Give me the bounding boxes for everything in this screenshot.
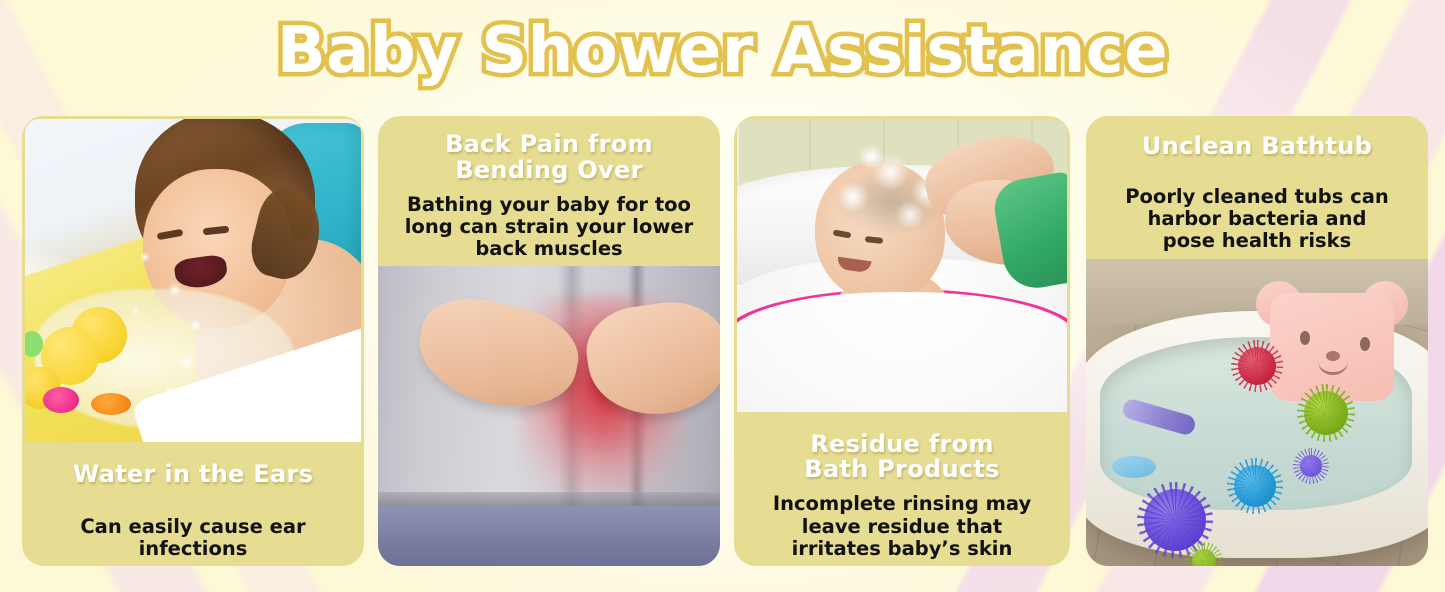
card-text-block: Back Pain from Bending Over Bathing your… bbox=[378, 116, 720, 266]
card-heading-line: Bending Over bbox=[392, 158, 706, 184]
card-back-pain-from-bending-over[interactable]: Back Pain from Bending Over Bathing your… bbox=[378, 116, 720, 566]
photo-lower-back-pain bbox=[378, 266, 720, 566]
card-description-line: long can strain your lower bbox=[392, 216, 706, 238]
card-description-line: leave residue that bbox=[748, 516, 1056, 538]
tub-drain-button-icon bbox=[1112, 456, 1156, 478]
card-heading-line: Back Pain from bbox=[392, 132, 706, 158]
card-residue-from-bath-products[interactable]: Residue from Bath Products Incomplete ri… bbox=[734, 116, 1070, 566]
card-text-block: Unclean Bathtub Poorly cleaned tubs can … bbox=[1086, 116, 1428, 259]
germ-purple-icon bbox=[1144, 489, 1206, 551]
photo-shampooing-child bbox=[737, 119, 1067, 412]
germ-blue-icon bbox=[1234, 465, 1276, 507]
photo-unclean-bathtub-with-germs bbox=[1086, 259, 1428, 566]
card-description-line: irritates baby’s skin bbox=[748, 538, 1056, 560]
germ-green-icon bbox=[1304, 391, 1348, 435]
germ-small-green-icon bbox=[1192, 549, 1216, 566]
germ-small-purple-icon bbox=[1300, 455, 1322, 477]
page-title: Baby Shower Assistance bbox=[0, 14, 1445, 88]
card-unclean-bathtub[interactable]: Unclean Bathtub Poorly cleaned tubs can … bbox=[1086, 116, 1428, 566]
card-text-block: Water in the Ears Can easily cause ear i… bbox=[22, 442, 364, 566]
card-heading: Unclean Bathtub bbox=[1100, 134, 1414, 160]
card-heading-line: Residue from bbox=[748, 432, 1056, 458]
card-heading-line: Bath Products bbox=[748, 457, 1056, 483]
card-description-line: Bathing your baby for too bbox=[392, 194, 706, 216]
card-water-in-the-ears[interactable]: Water in the Ears Can easily cause ear i… bbox=[22, 116, 364, 566]
card-heading: Water in the Ears bbox=[36, 462, 350, 488]
card-description: Incomplete rinsing may leave residue tha… bbox=[748, 493, 1056, 560]
germ-red-icon bbox=[1238, 347, 1276, 385]
card-description-line: pose health risks bbox=[1100, 230, 1414, 252]
card-description: Poorly cleaned tubs can harbor bacteria … bbox=[1100, 186, 1414, 253]
card-description-line: Can easily cause ear bbox=[36, 516, 350, 538]
cards-container: Water in the Ears Can easily cause ear i… bbox=[0, 116, 1445, 566]
card-heading: Back Pain from Bending Over bbox=[392, 132, 706, 184]
card-description-line: Incomplete rinsing may bbox=[748, 493, 1056, 515]
card-description: Can easily cause ear infections bbox=[36, 516, 350, 560]
card-description-line: harbor bacteria and bbox=[1100, 208, 1414, 230]
card-heading: Residue from Bath Products bbox=[748, 432, 1056, 484]
card-text-block: Residue from Bath Products Incomplete ri… bbox=[734, 412, 1070, 566]
photo-baby-splashing bbox=[25, 119, 361, 442]
card-description: Bathing your baby for too long can strai… bbox=[392, 194, 706, 261]
card-description-line: back muscles bbox=[392, 238, 706, 260]
card-description-line: infections bbox=[36, 538, 350, 560]
card-description-line: Poorly cleaned tubs can bbox=[1100, 186, 1414, 208]
